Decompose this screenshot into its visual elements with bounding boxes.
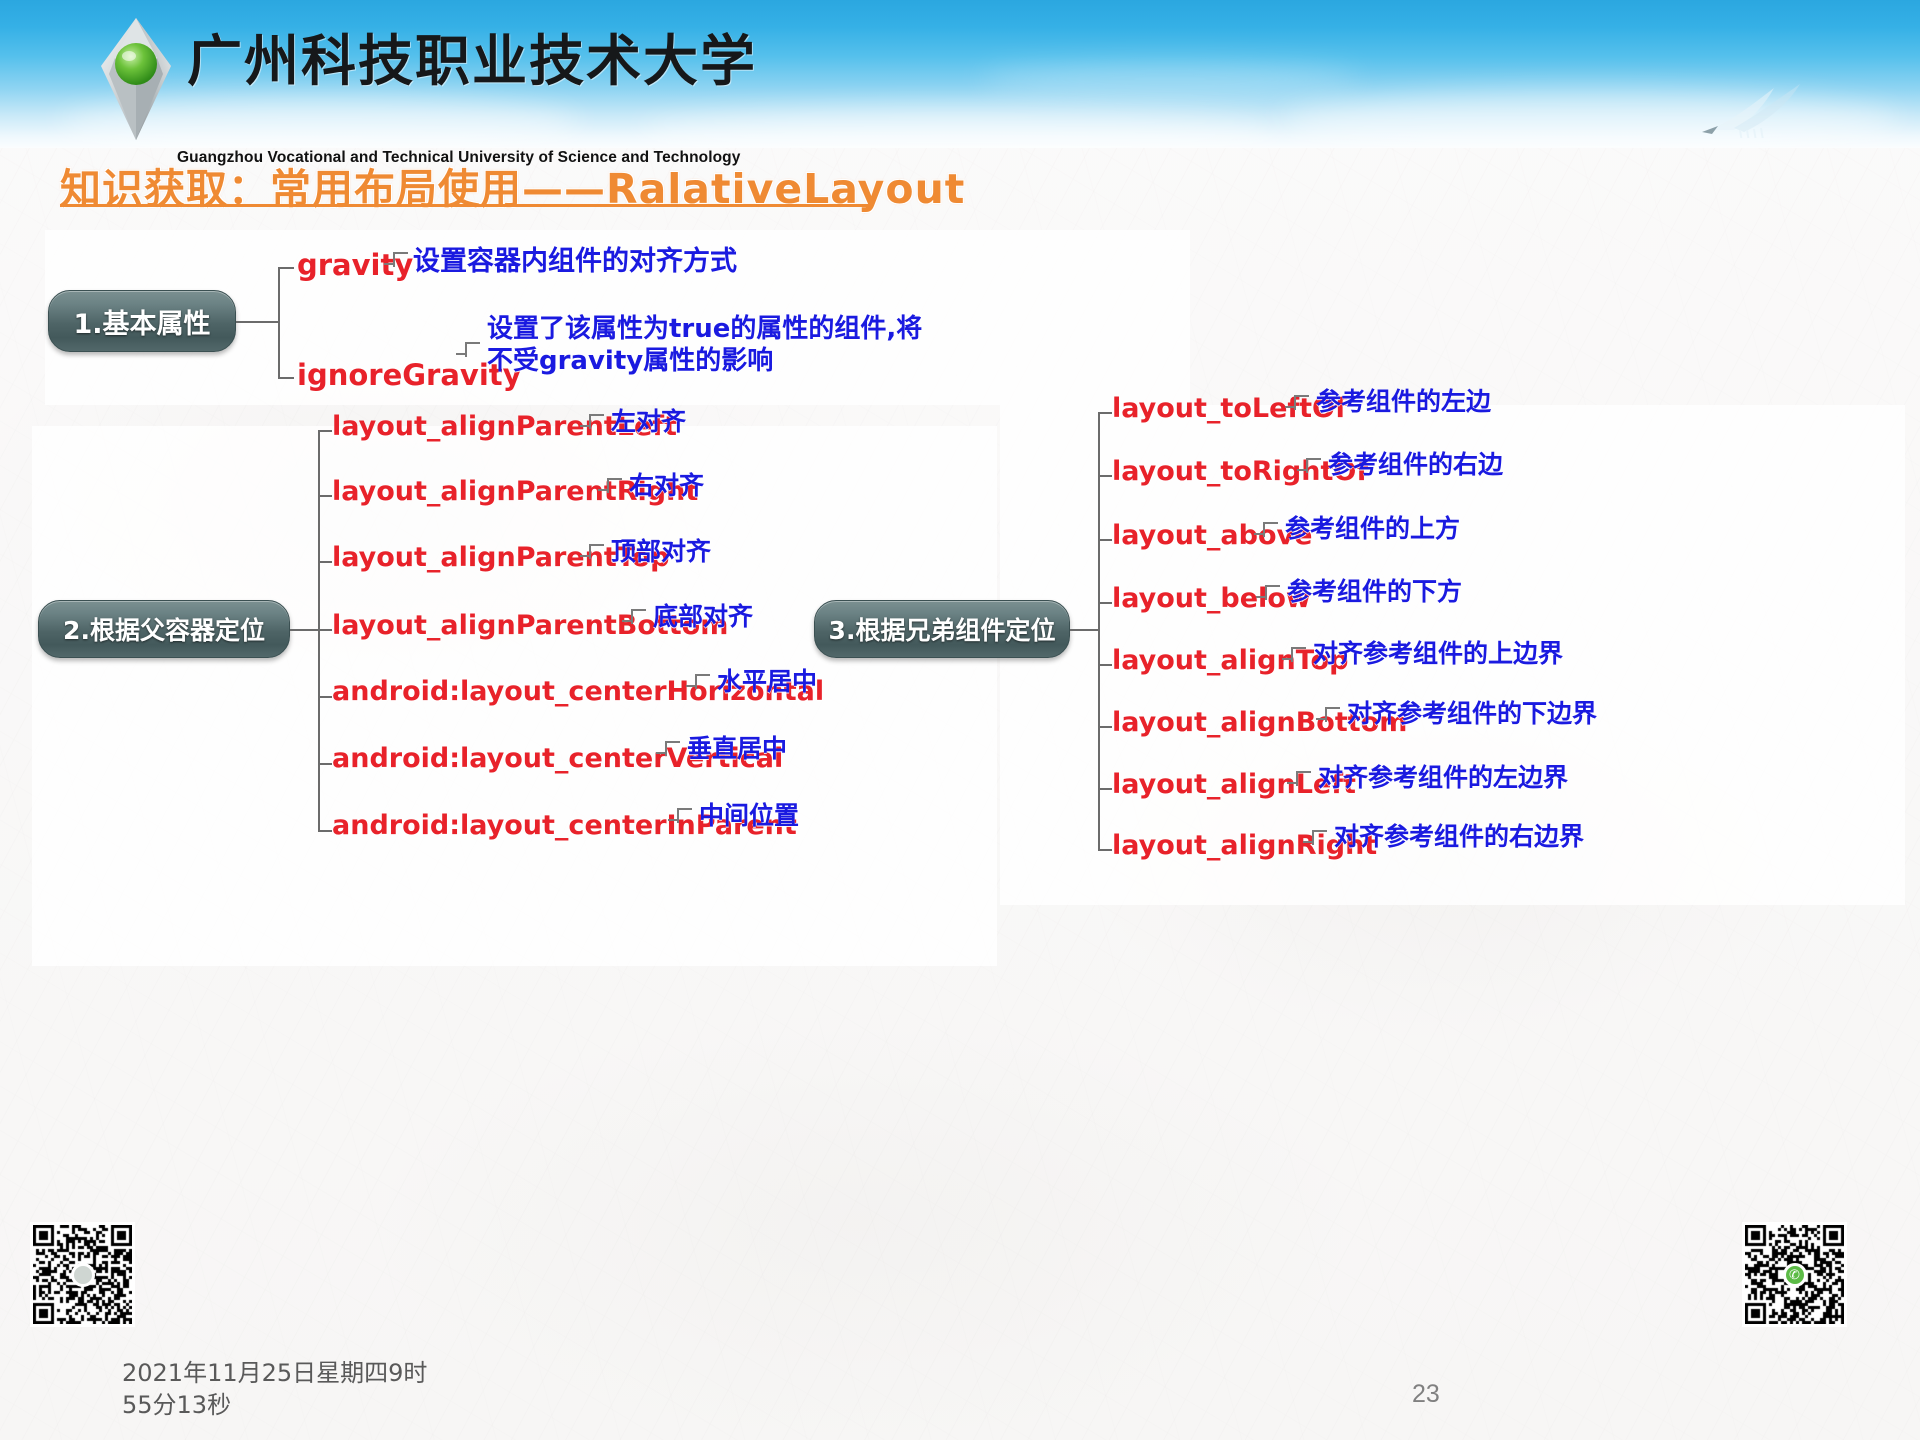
connector-elbow-3-7 bbox=[1287, 771, 1309, 784]
mindmap-topic-3-3[interactable]: layout_above bbox=[1112, 520, 1312, 551]
title-underline bbox=[60, 204, 868, 207]
connector-elbow-2-6 bbox=[656, 741, 678, 754]
mindmap-desc-3-7: 对齐参考组件的左边界 bbox=[1318, 763, 1568, 794]
connector-elbow-3-8 bbox=[1303, 830, 1325, 843]
mindmap-topic-3-1[interactable]: layout_toLeftOf bbox=[1112, 393, 1347, 424]
connector-elbow-2-5 bbox=[686, 674, 708, 687]
mindmap-desc-2-7: 中间位置 bbox=[699, 801, 799, 832]
mindmap-desc-3-8: 对齐参考组件的右边界 bbox=[1334, 822, 1584, 853]
connector-1-stem bbox=[236, 321, 278, 323]
mindmap-desc-1-1: 设置容器内组件的对齐方式 bbox=[413, 246, 737, 279]
mindmap-node-2-label: 2.根据父容器定位 bbox=[63, 611, 265, 647]
connector-2-tick-7 bbox=[318, 830, 332, 832]
qr-right-center-badge: ✆ bbox=[1783, 1263, 1807, 1287]
connector-3-tick-3 bbox=[1098, 539, 1112, 541]
connector-1-bracket bbox=[278, 267, 280, 377]
mindmap-node-1-label: 1.基本属性 bbox=[73, 302, 210, 341]
connector-3-tick-1 bbox=[1098, 412, 1112, 414]
mindmap-desc-3-2: 参考组件的右边 bbox=[1328, 450, 1503, 481]
mindmap-desc-2-1: 左对齐 bbox=[611, 407, 686, 438]
connector-elbow-1-1 bbox=[384, 252, 406, 265]
mindmap-node-3[interactable]: 3.根据兄弟组件定位 bbox=[814, 600, 1070, 658]
qr-left-center-badge bbox=[71, 1263, 95, 1287]
connector-3-tick-6 bbox=[1098, 726, 1112, 728]
connector-3-tick-7 bbox=[1098, 788, 1112, 790]
mindmap-desc-3-3: 参考组件的上方 bbox=[1285, 514, 1460, 545]
connector-elbow-3-6 bbox=[1316, 707, 1338, 720]
diamond-emblem-icon bbox=[95, 14, 177, 144]
mindmap-diagram: 1.基本属性 gravity 设置容器内组件的对齐方式 ignoreGravit… bbox=[0, 230, 1920, 1130]
page-number: 23 bbox=[1412, 1380, 1440, 1409]
mindmap-node-1[interactable]: 1.基本属性 bbox=[48, 290, 236, 352]
connector-elbow-2-3 bbox=[580, 544, 602, 557]
connector-3-tick-8 bbox=[1098, 849, 1112, 851]
mindmap-desc-3-5: 对齐参考组件的上边界 bbox=[1313, 639, 1563, 670]
mindmap-desc-3-6: 对齐参考组件的下边界 bbox=[1347, 699, 1597, 730]
mindmap-desc-2-4: 底部对齐 bbox=[653, 602, 753, 633]
footer-date-line2: 55分13秒 bbox=[122, 1389, 452, 1421]
connector-elbow-3-2 bbox=[1297, 458, 1319, 471]
connector-1-tick-a bbox=[278, 267, 294, 269]
mindmap-desc-1-2: 设置了该属性为true的属性的组件,将不受gravity属性的影响 bbox=[487, 314, 939, 377]
flying-bird-icon bbox=[1700, 78, 1820, 138]
mindmap-node-2[interactable]: 2.根据父容器定位 bbox=[38, 600, 290, 658]
mindmap-node-3-label: 3.根据兄弟组件定位 bbox=[829, 611, 1056, 647]
connector-elbow-3-1 bbox=[1285, 395, 1307, 408]
connector-2-tick-4 bbox=[318, 629, 332, 631]
connector-elbow-2-2 bbox=[598, 478, 620, 491]
university-name-cn: 广州科技职业技术大学 bbox=[187, 34, 757, 89]
university-logo-block: 广州科技职业技术大学 Guangzhou Vocational and Tech… bbox=[95, 14, 757, 167]
connector-2-tick-6 bbox=[318, 763, 332, 765]
connector-elbow-2-4 bbox=[622, 609, 644, 622]
footer-date: 2021年11月25日星期四9时 55分13秒 bbox=[122, 1357, 452, 1422]
connector-3-tick-2 bbox=[1098, 475, 1112, 477]
mindmap-desc-3-1: 参考组件的左边 bbox=[1316, 387, 1491, 418]
connector-elbow-3-3 bbox=[1254, 522, 1276, 535]
qr-code-icon-right[interactable]: ✆ bbox=[1742, 1222, 1847, 1327]
mindmap-desc-2-2: 右对齐 bbox=[629, 471, 704, 502]
connector-elbow-3-5 bbox=[1282, 647, 1304, 660]
mindmap-topic-3-4[interactable]: layout_below bbox=[1112, 583, 1311, 614]
slide-canvas: 广州科技职业技术大学 Guangzhou Vocational and Tech… bbox=[0, 0, 1920, 1440]
footer-date-line1: 2021年11月25日星期四9时 bbox=[122, 1357, 452, 1389]
connector-2-stem bbox=[290, 629, 318, 631]
connector-elbow-1-2 bbox=[456, 342, 478, 355]
connector-2-tick-5 bbox=[318, 696, 332, 698]
connector-elbow-3-4 bbox=[1256, 585, 1278, 598]
connector-1-tick-b bbox=[278, 377, 294, 379]
connector-elbow-2-7 bbox=[668, 808, 690, 821]
connector-2-tick-3 bbox=[318, 561, 332, 563]
connector-2-tick-1 bbox=[318, 430, 332, 432]
qr-code-icon-left[interactable] bbox=[30, 1222, 135, 1327]
mindmap-desc-2-3: 顶部对齐 bbox=[611, 537, 711, 568]
mindmap-desc-3-4: 参考组件的下方 bbox=[1287, 577, 1462, 608]
connector-2-tick-2 bbox=[318, 495, 332, 497]
mindmap-desc-2-5: 水平居中 bbox=[717, 667, 817, 698]
connector-3-tick-5 bbox=[1098, 664, 1112, 666]
connector-3-bracket bbox=[1098, 412, 1100, 849]
connector-3-tick-4 bbox=[1098, 602, 1112, 604]
connector-3-stem bbox=[1070, 629, 1098, 631]
connector-elbow-2-1 bbox=[580, 414, 602, 427]
mindmap-desc-2-6: 垂直居中 bbox=[687, 734, 787, 765]
